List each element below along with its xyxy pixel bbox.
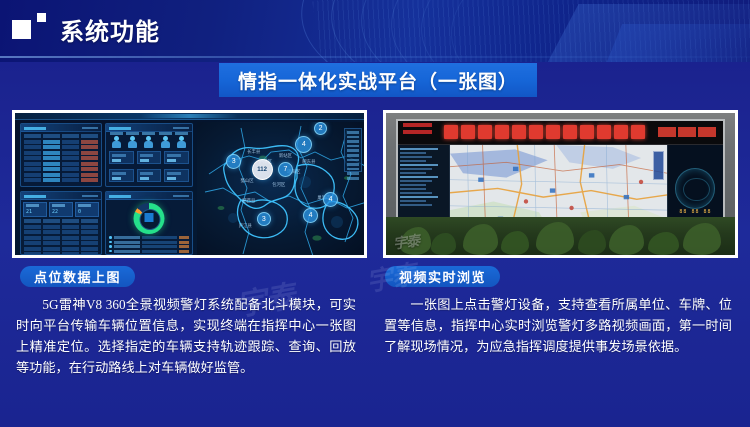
dashboard-topbar [15, 113, 364, 120]
table-row [24, 145, 98, 149]
map-cluster-marker[interactable]: 3 [257, 212, 271, 226]
map-district-label: 肥西县 [242, 198, 255, 204]
map-legend-panel[interactable] [344, 128, 362, 172]
table-row [24, 162, 98, 166]
map-district-label: 蜀山区 [240, 178, 253, 184]
subtitle-text: 情指一体化实战平台（一张图） [238, 67, 518, 94]
panel-header [21, 124, 101, 132]
panel-header [21, 192, 101, 200]
count-card-row: 21 22 0 [21, 200, 101, 218]
panel-header [106, 124, 192, 132]
table-row [24, 156, 98, 160]
count-card: 22 [49, 202, 73, 217]
square-bullet-large-icon [12, 20, 31, 39]
figure-left-gis-dashboard: 21 22 0 [12, 110, 367, 258]
slide-root: 系统功能 情指一体化实战平台（一张图） [0, 0, 750, 427]
stat-chip [109, 169, 134, 182]
device-icon-row [106, 132, 192, 150]
subtitle-banner: 情指一体化实战平台（一张图） [219, 63, 537, 97]
table-header-row [24, 134, 98, 138]
header-title-row: 系统功能 [12, 12, 160, 47]
map-district-label: 肥东县 [302, 159, 315, 165]
panel-summary-counts: 21 22 0 [20, 191, 102, 255]
header-band: 系统功能 [0, 0, 750, 62]
police-device-icon [112, 136, 121, 148]
gauge-legend [106, 236, 192, 255]
caption-pill-left: 点位数据上图 [20, 266, 135, 287]
panel-completion-gauge [105, 191, 193, 255]
map-district-label: 庐江县 [239, 223, 252, 229]
table-header-row [24, 219, 98, 223]
gis-map[interactable]: 长丰县庐阳区新站区瑶海区蜀山区包河区肥东县肥西县巢湖市庐江县2431127443 [197, 122, 364, 255]
body-paragraph-right: 一张图上点击警灯设备，支持查看所属单位、车牌、位置等信息，指挥中心实时浏览警灯多… [384, 294, 732, 357]
map-cluster-marker[interactable]: 4 [323, 192, 338, 207]
caption-pill-right: 视频实时浏览 [385, 266, 500, 287]
page-title: 系统功能 [60, 12, 160, 47]
panel-header [106, 192, 192, 200]
map-district-label: 包河区 [272, 182, 285, 188]
figure-right-command-centre-photo: 88 88 88 [383, 110, 738, 258]
stat-chip-row [106, 168, 192, 183]
donut-center-icon [145, 213, 154, 222]
square-bullet-small-icon [37, 13, 46, 22]
stat-chip [164, 151, 189, 164]
police-device-icon [128, 136, 137, 148]
stat-chip [109, 151, 134, 164]
panel-alarm-table [20, 123, 102, 187]
stat-chip-row [106, 150, 192, 165]
photo-canvas: 88 88 88 [386, 113, 735, 255]
mini-table [21, 132, 101, 186]
map-district-label: 长丰县 [247, 149, 260, 155]
table-row [24, 173, 98, 177]
stat-chip [137, 169, 162, 182]
map-vector-layer [197, 122, 364, 255]
table-row [24, 151, 98, 155]
donut-gauge [106, 200, 192, 236]
map-cluster-marker[interactable]: 4 [303, 208, 318, 223]
caption-left-text: 点位数据上图 [34, 267, 121, 286]
legend-item [109, 250, 189, 253]
table-row [24, 230, 98, 234]
count-card: 0 [75, 202, 99, 217]
led-banner-text [444, 125, 645, 139]
radar-readout: 88 88 88 [679, 209, 711, 215]
led-status-text [658, 127, 716, 137]
map-district-label: 新站区 [279, 153, 292, 159]
header-underline [0, 56, 750, 58]
map-cluster-marker[interactable]: 112 [252, 159, 273, 180]
police-device-icon [177, 136, 186, 148]
body-paragraph-left: 5G雷神V8 360全景视频警灯系统配备北斗模块，可实时向平台传输车辆位置信息，… [16, 294, 356, 378]
caption-right-text: 视频实时浏览 [399, 267, 486, 286]
table-row [24, 178, 98, 182]
count-card: 21 [23, 202, 47, 217]
led-banner [398, 121, 722, 146]
police-device-icon [144, 136, 153, 148]
table-row [24, 167, 98, 171]
table-row [24, 241, 98, 245]
led-clock [403, 123, 432, 142]
table-row [24, 236, 98, 240]
photo-watermark: 宇泰 [392, 230, 421, 253]
radar-visual [675, 168, 715, 208]
police-device-icon [161, 136, 170, 148]
table-row [24, 247, 98, 251]
dashboard-canvas: 21 22 0 [15, 113, 364, 255]
planter-foreground [386, 217, 735, 255]
table-row [24, 225, 98, 229]
legend-item [109, 245, 189, 248]
table-row [24, 252, 98, 255]
legend-item [109, 254, 189, 255]
wall-map-sidebar-widget [653, 151, 664, 181]
mini-table [21, 218, 101, 255]
panel-device-stats [105, 123, 193, 187]
stat-chip [137, 151, 162, 164]
legend-item [109, 236, 189, 239]
stat-chip [164, 169, 189, 182]
table-row [24, 140, 98, 144]
legend-item [109, 241, 189, 244]
